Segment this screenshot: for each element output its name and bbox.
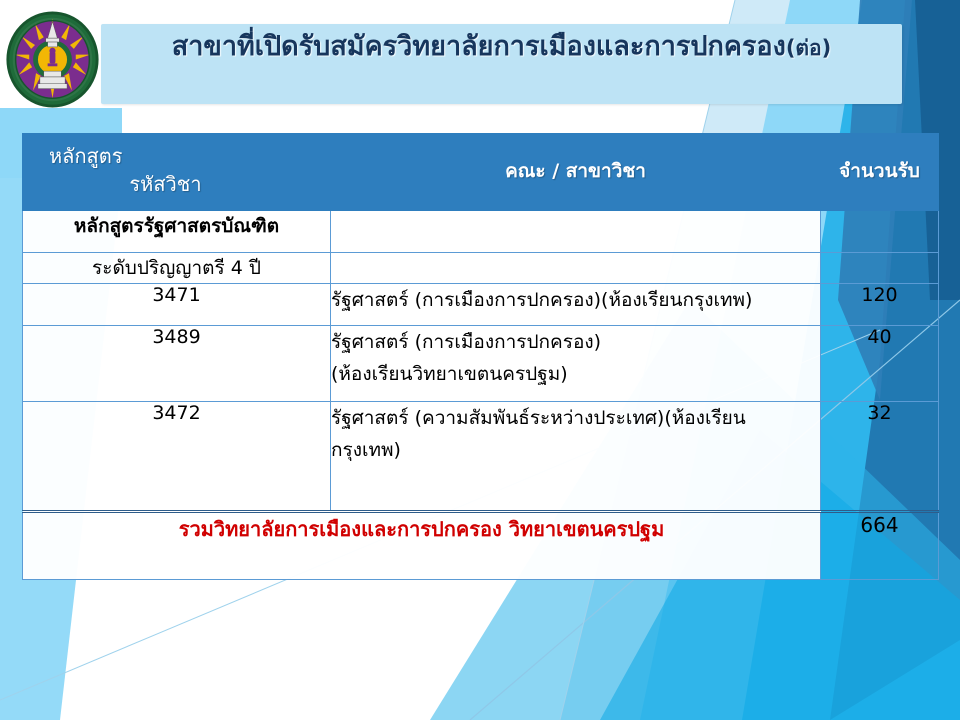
row-name-line1: รัฐศาสตร์ (ความสัมพันธ์ระหว่างประเทศ)(ห้… (331, 402, 820, 434)
row-code: 3472 (23, 402, 331, 512)
row-name-line1: รัฐศาสตร์ (การเมืองการปกครอง)(ห้องเรียนก… (331, 284, 820, 316)
row-name-line2: (ห้องเรียนวิทยาเขตนครปฐม) (331, 358, 820, 390)
total-quota: 664 (821, 512, 939, 580)
row-code: 3471 (23, 284, 331, 326)
table-row: 3472 รัฐศาสตร์ (ความสัมพันธ์ระหว่างประเท… (23, 402, 939, 512)
page-title-suffix: (ต่อ) (786, 36, 831, 60)
table-header-col2: คณะ / สาขาวิชา (331, 134, 821, 211)
table-row-total: รวมวิทยาลัยการเมืองและการปกครอง วิทยาเขต… (23, 512, 939, 580)
row-quota: 40 (821, 326, 939, 402)
level-qty-cell (821, 253, 939, 284)
table-header-row: หลักสูตร รหัสวิชา คณะ / สาขาวิชา จำนวนรั… (23, 134, 939, 211)
title-banner: สาขาที่เปิดรับสมัครวิทยาลัยการเมืองและกา… (101, 24, 902, 104)
row-name-line1: รัฐศาสตร์ (การเมืองการปกครอง) (331, 326, 820, 358)
header-code-label: รหัสวิชา (23, 168, 308, 200)
admission-table: หลักสูตร รหัสวิชา คณะ / สาขาวิชา จำนวนรั… (22, 133, 939, 580)
slide-canvas: สาขาที่เปิดรับสมัครวิทยาลัยการเมืองและกา… (0, 0, 960, 720)
page-title-main: สาขาที่เปิดรับสมัครวิทยาลัยการเมืองและกา… (172, 31, 786, 62)
table-row: 3489 รัฐศาสตร์ (การเมืองการปกครอง) (ห้อง… (23, 326, 939, 402)
program-title-name-cell (331, 211, 821, 253)
row-name: รัฐศาสตร์ (ความสัมพันธ์ระหว่างประเทศ)(ห้… (331, 402, 821, 512)
table-row: 3471 รัฐศาสตร์ (การเมืองการปกครอง)(ห้องเ… (23, 284, 939, 326)
page-title: สาขาที่เปิดรับสมัครวิทยาลัยการเมืองและกา… (101, 30, 902, 65)
row-name-line2: กรุงเทพ) (331, 434, 820, 466)
level-cell: ระดับปริญญาตรี 4 ปี (23, 253, 331, 284)
table-header-col3: จำนวนรับ (821, 134, 939, 211)
header-quota-label: จำนวนรับ (821, 156, 938, 186)
university-seal-icon (4, 11, 101, 108)
level-name-cell (331, 253, 821, 284)
program-title-cell: หลักสูตรรัฐศาสตรบัณฑิต (23, 211, 331, 253)
row-quota: 120 (821, 284, 939, 326)
total-label: รวมวิทยาลัยการเมืองและการปกครอง วิทยาเขต… (23, 512, 821, 580)
row-code: 3489 (23, 326, 331, 402)
table-row-program-title: หลักสูตรรัฐศาสตรบัณฑิต (23, 211, 939, 253)
row-name: รัฐศาสตร์ (การเมืองการปกครอง) (ห้องเรียน… (331, 326, 821, 402)
table-row-level: ระดับปริญญาตรี 4 ปี (23, 253, 939, 284)
program-title-qty-cell (821, 211, 939, 253)
row-name: รัฐศาสตร์ (การเมืองการปกครอง)(ห้องเรียนก… (331, 284, 821, 326)
header-faculty-label: คณะ / สาขาวิชา (331, 156, 820, 186)
row-quota: 32 (821, 402, 939, 512)
table-header-col1: หลักสูตร รหัสวิชา (23, 134, 331, 211)
